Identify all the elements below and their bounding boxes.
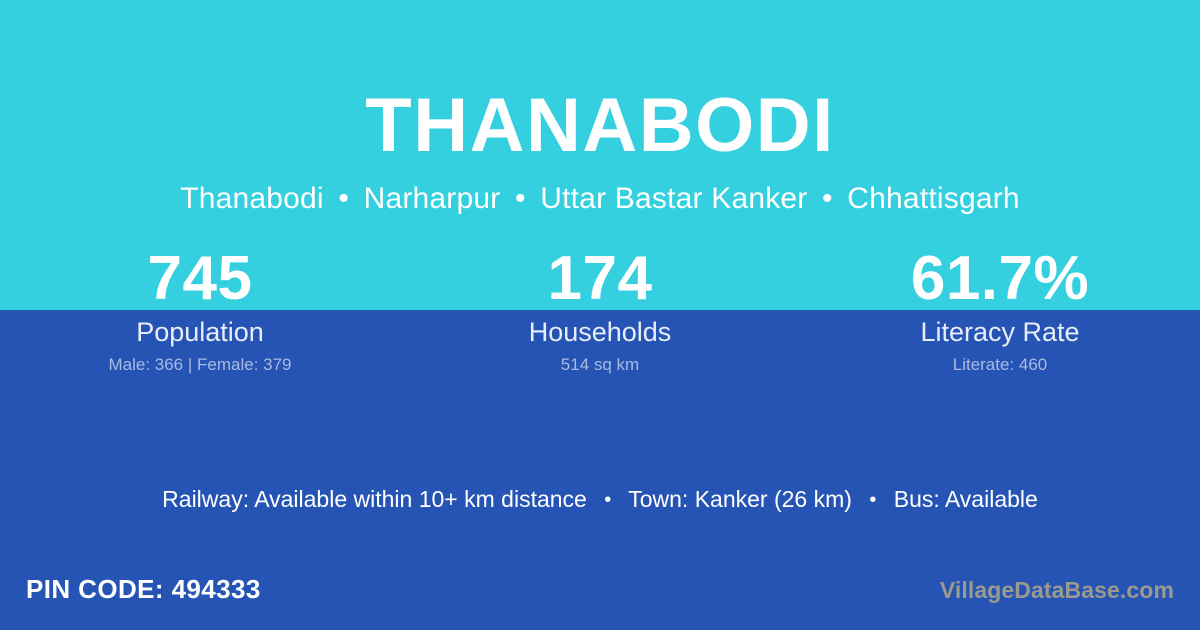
breadcrumb-part-village: Thanabodi	[180, 182, 324, 215]
stat-value-population: 745	[0, 246, 400, 312]
infrastructure-separator: •	[858, 489, 887, 511]
infrastructure-bus: Bus: Available	[894, 486, 1038, 512]
infrastructure-town: Town: Kanker (26 km)	[628, 486, 852, 512]
infrastructure-line: Railway: Available within 10+ km distanc…	[0, 484, 1200, 515]
stat-sub-literacy-rate: Literate: 460	[800, 354, 1200, 376]
footer: PIN CODE: 494333 VillageDataBase.com	[0, 572, 1200, 612]
breadcrumb: Thanabodi • Narharpur • Uttar Bastar Kan…	[0, 180, 1200, 218]
breadcrumb-part-block: Narharpur	[364, 182, 501, 215]
stat-sub-households: 514 sq km	[400, 354, 800, 376]
stat-label-literacy-rate: Literacy Rate	[800, 316, 1200, 348]
breadcrumb-separator: •	[816, 182, 839, 215]
stat-households: 174 Households 514 sq km	[400, 246, 800, 376]
stats-row: 745 Population Male: 366 | Female: 379 1…	[0, 246, 1200, 376]
breadcrumb-separator: •	[332, 182, 355, 215]
stat-label-households: Households	[400, 316, 800, 348]
stat-label-population: Population	[0, 316, 400, 348]
stat-value-households: 174	[400, 246, 800, 312]
stat-value-literacy-rate: 61.7%	[800, 246, 1200, 312]
site-brand: VillageDataBase.com	[940, 575, 1174, 605]
stat-literacy-rate: 61.7% Literacy Rate Literate: 460	[800, 246, 1200, 376]
breadcrumb-part-district: Uttar Bastar Kanker	[540, 182, 807, 215]
breadcrumb-part-state: Chhattisgarh	[847, 182, 1020, 215]
breadcrumb-separator: •	[509, 182, 532, 215]
page-title: THANABODI	[0, 82, 1200, 170]
infrastructure-railway: Railway: Available within 10+ km distanc…	[162, 486, 587, 512]
pin-code: PIN CODE: 494333	[26, 572, 261, 606]
stat-sub-population: Male: 366 | Female: 379	[0, 354, 400, 376]
infrastructure-separator: •	[593, 489, 622, 511]
stat-population: 745 Population Male: 366 | Female: 379	[0, 246, 400, 376]
village-info-card: THANABODI Thanabodi • Narharpur • Uttar …	[0, 0, 1200, 630]
